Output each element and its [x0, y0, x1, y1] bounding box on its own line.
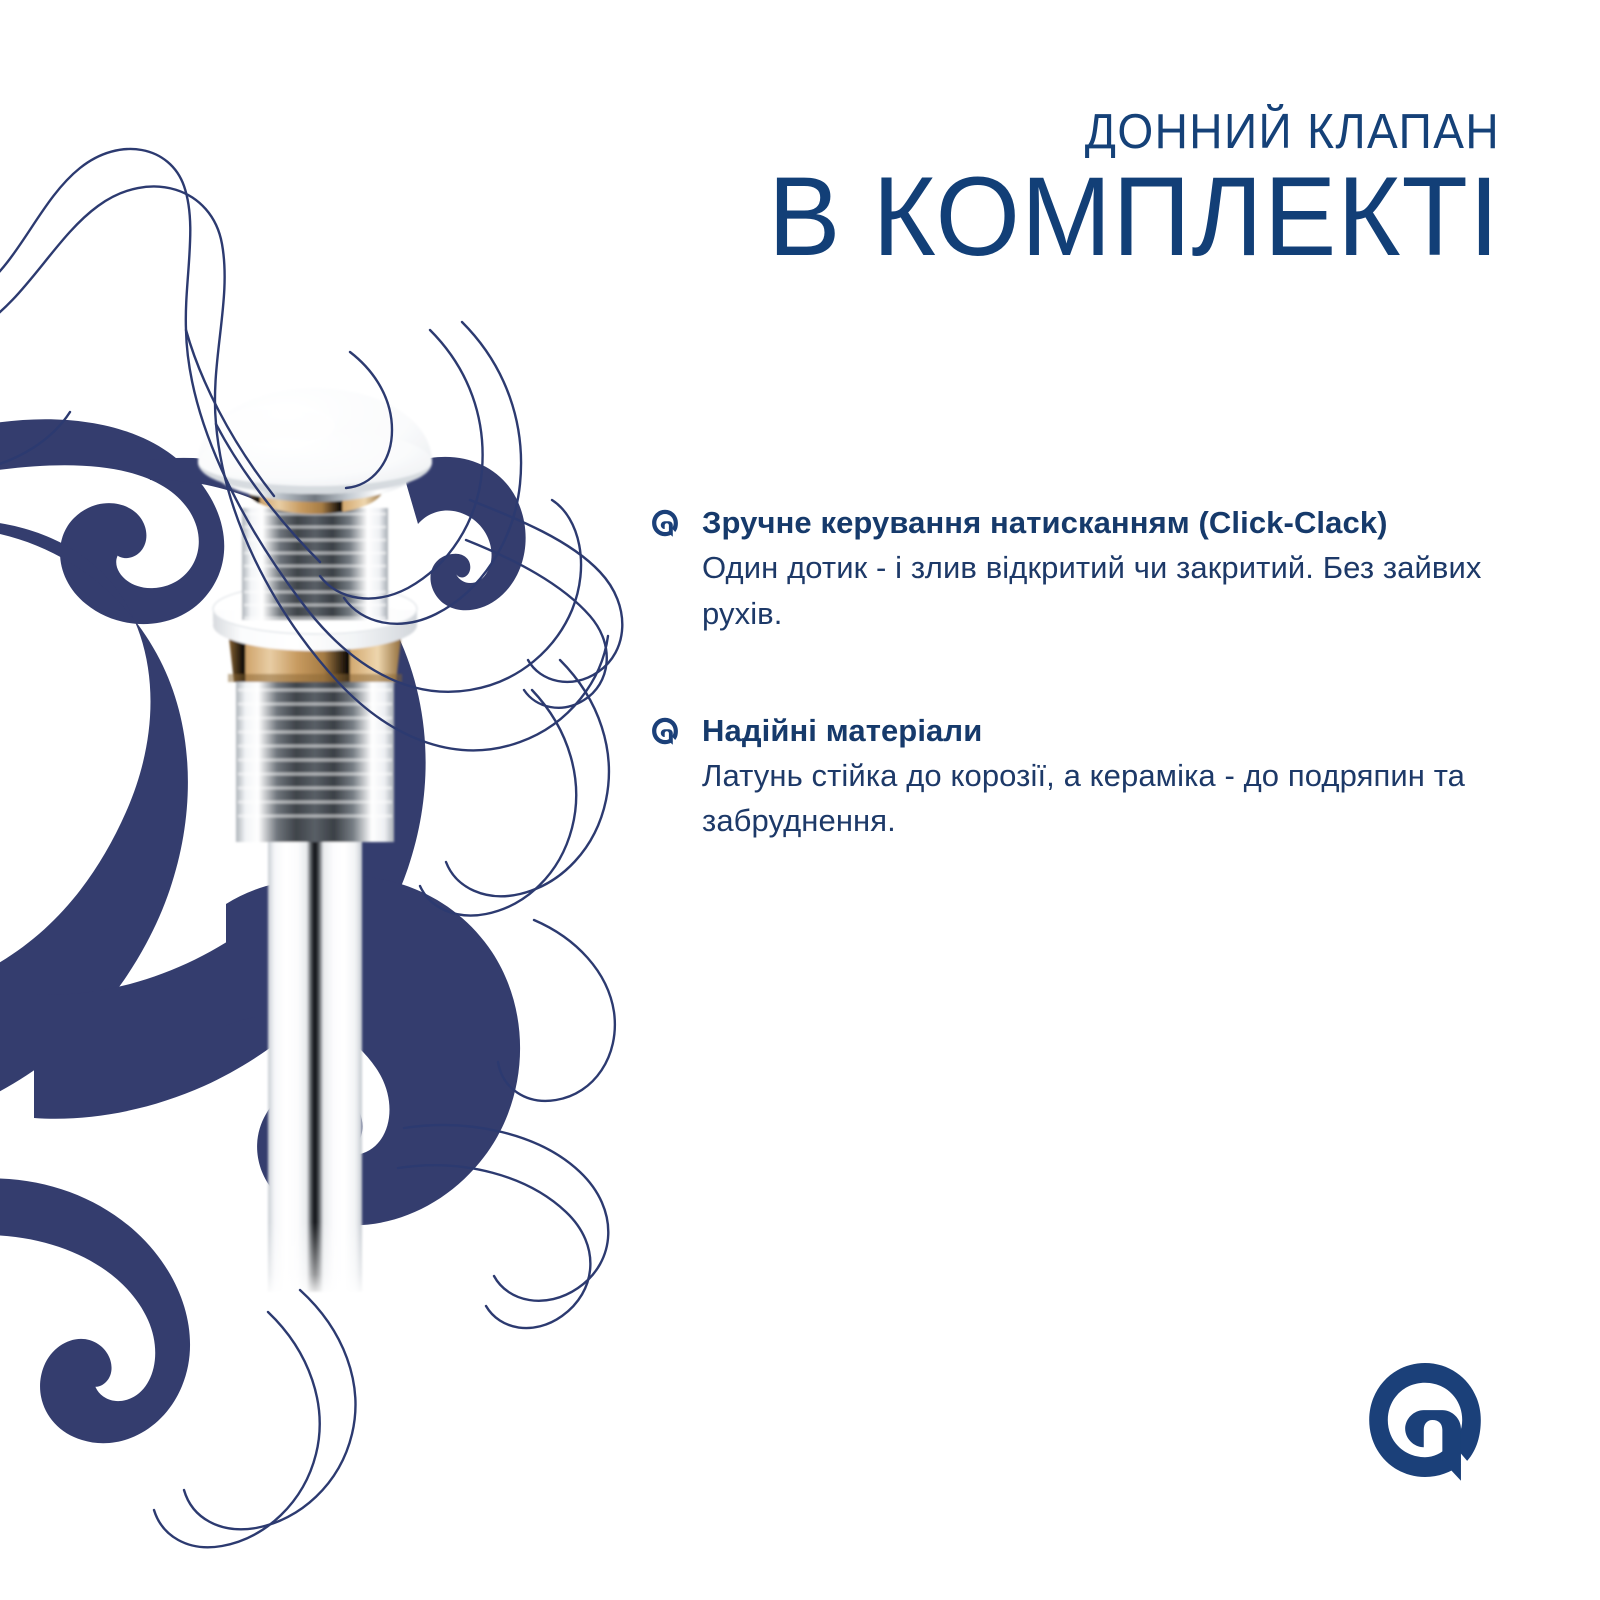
- feature-item-click-clack: Зручне керування натисканням (Click-Clac…: [650, 500, 1510, 636]
- poster-canvas: ДОННИЙ КЛАПАН В КОМПЛЕКТІ Зручне керуван…: [0, 0, 1600, 1600]
- feature-list: Зручне керування натисканням (Click-Clac…: [650, 500, 1510, 844]
- bottom-valve-click-clack-product-photo: [150, 382, 480, 1297]
- heading-kicker: ДОННИЙ КЛАПАН: [692, 108, 1500, 157]
- feature-title: Зручне керування натисканням (Click-Clac…: [702, 500, 1510, 545]
- q-logo-icon: [1363, 1358, 1487, 1482]
- q-logo-bullet-icon: [650, 508, 680, 538]
- q-logo-bullet-icon: [650, 716, 680, 746]
- feature-text: Зручне керування натисканням (Click-Clac…: [702, 500, 1510, 636]
- page-title: В КОМПЛЕКТІ: [666, 161, 1500, 273]
- feature-description: Латунь стійка до корозії, а кераміка - д…: [702, 753, 1510, 844]
- heading-block: ДОННИЙ КЛАПАН В КОМПЛЕКТІ: [640, 108, 1500, 273]
- feature-description: Один дотик - і злив відкритий чи закрити…: [702, 545, 1510, 636]
- feature-item-materials: Надійні матеріали Латунь стійка до короз…: [650, 708, 1510, 844]
- feature-text: Надійні матеріали Латунь стійка до короз…: [702, 708, 1510, 844]
- feature-title: Надійні матеріали: [702, 708, 1510, 753]
